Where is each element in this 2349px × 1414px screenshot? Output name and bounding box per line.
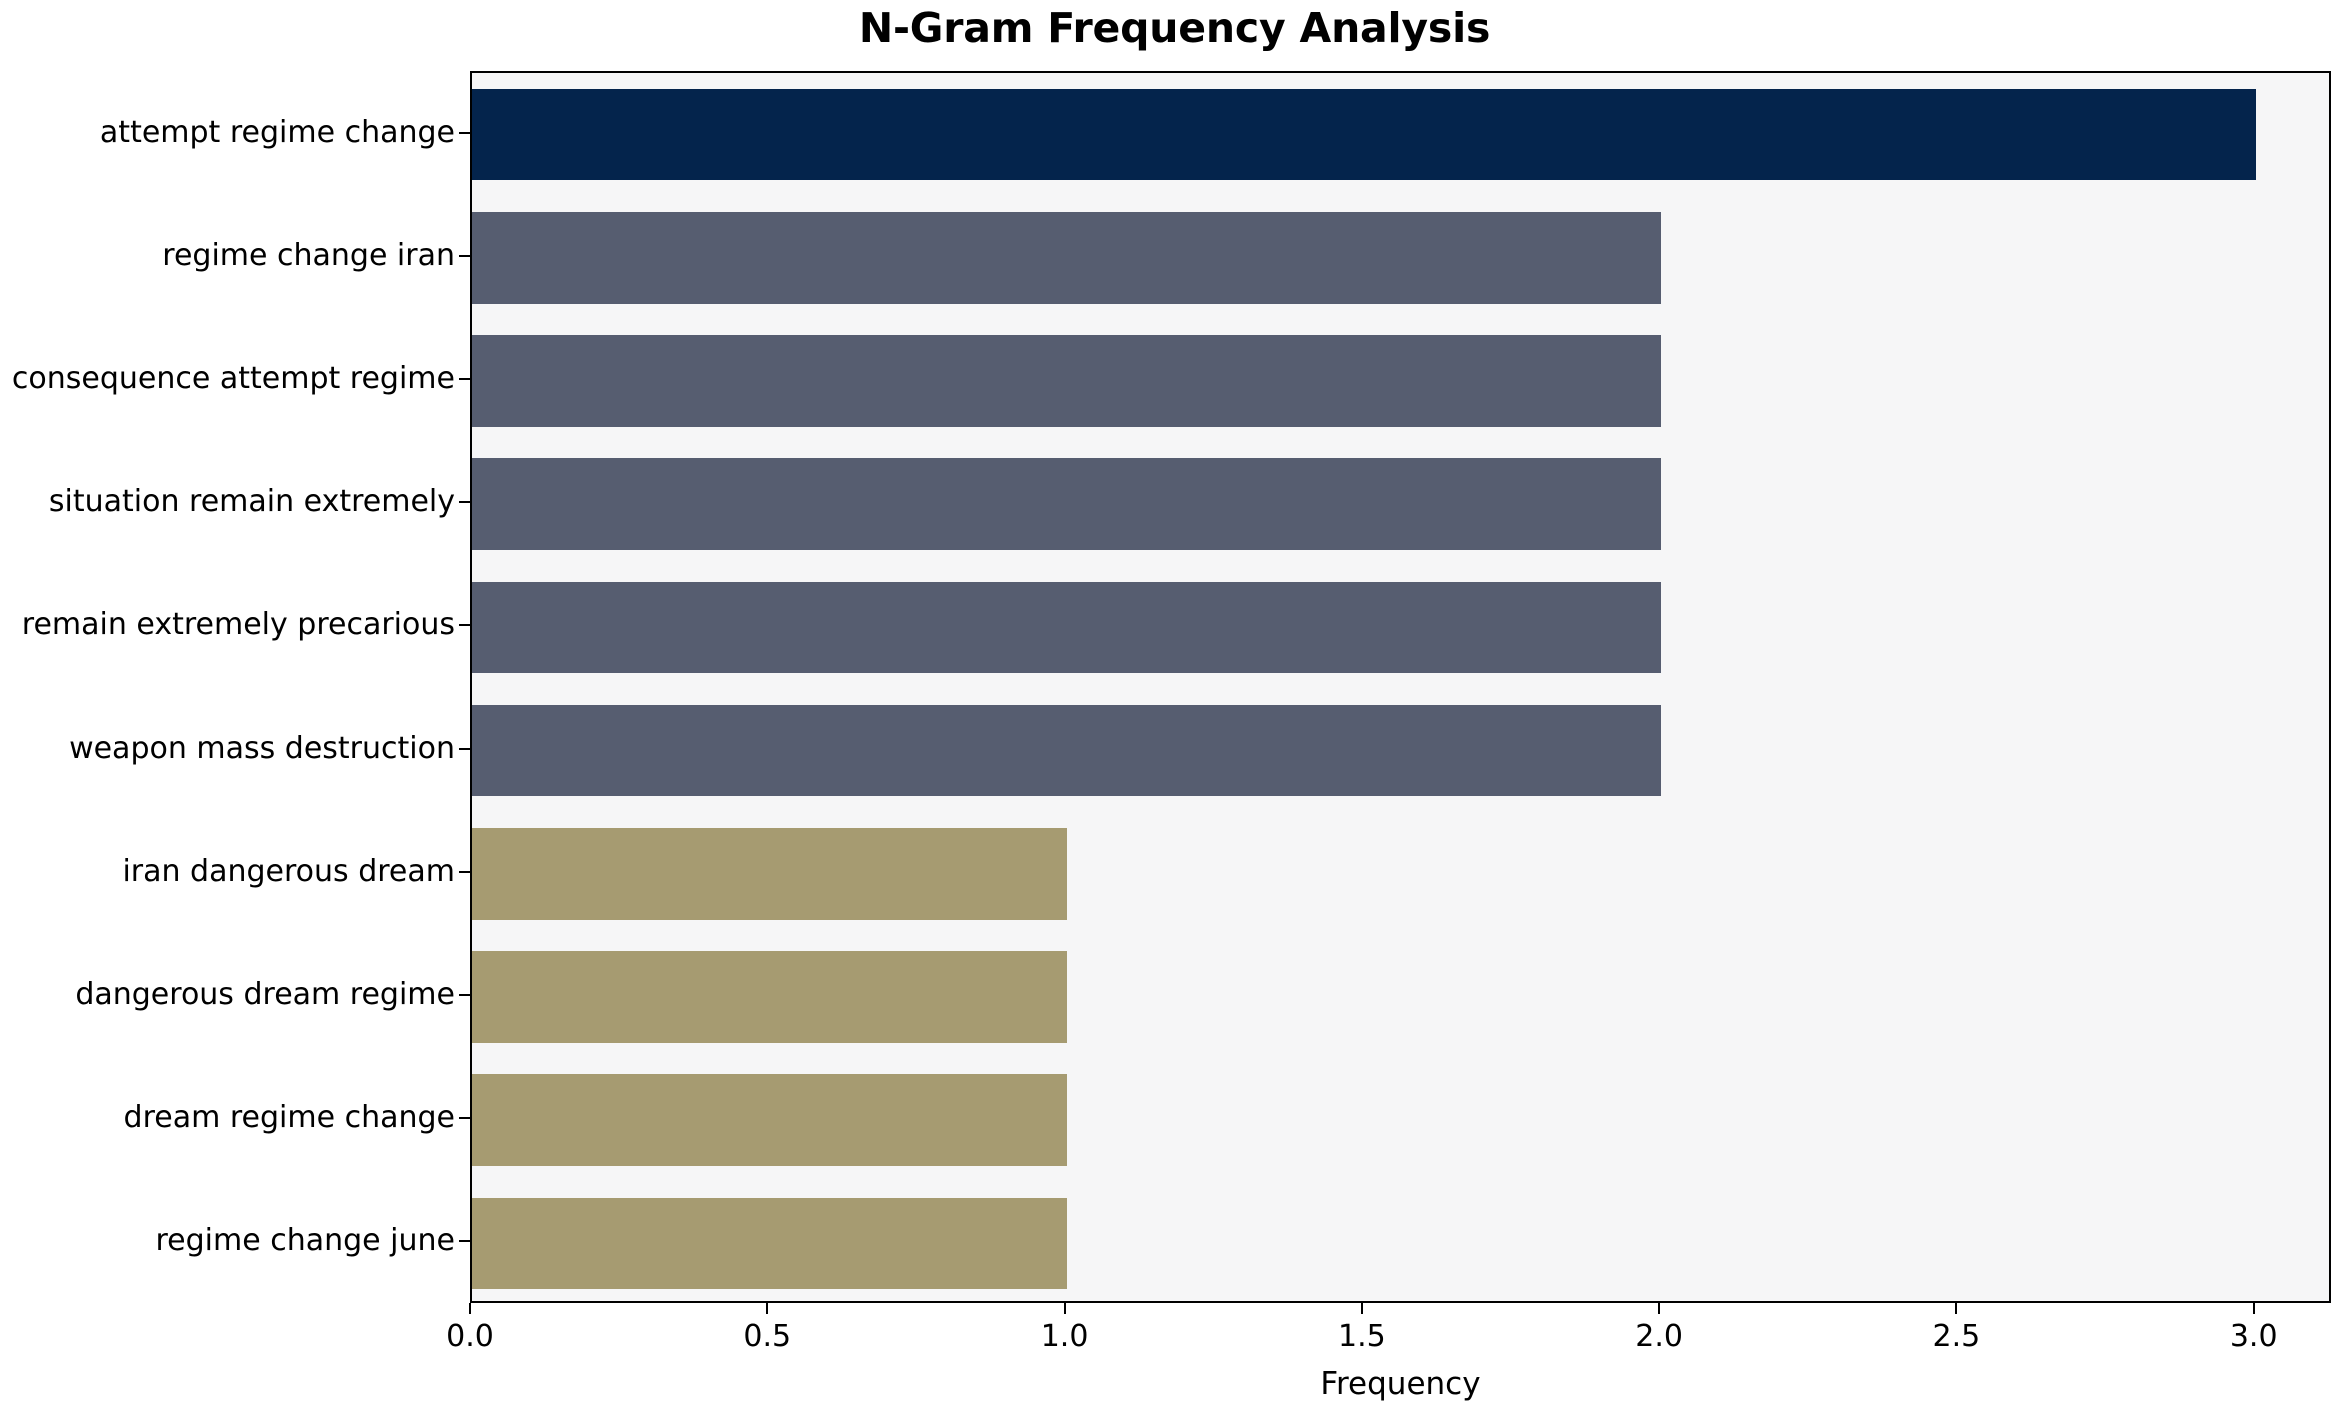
y-tick-label: consequence attempt regime: [0, 364, 455, 394]
bar: [472, 951, 1067, 1043]
y-tick-mark: [459, 748, 470, 750]
bar: [472, 1074, 1067, 1166]
x-tick-label: 0.5: [707, 1320, 827, 1354]
bar: [472, 212, 1661, 304]
y-tick-label: regime change iran: [0, 241, 455, 271]
x-axis-label: Frequency: [470, 1366, 2331, 1402]
x-tick-label: 1.5: [1302, 1320, 1422, 1354]
y-tick-mark: [459, 1240, 470, 1242]
y-tick-label: attempt regime change: [0, 118, 455, 148]
y-tick-label: regime change june: [0, 1226, 455, 1256]
x-tick-label: 2.5: [1896, 1320, 2016, 1354]
bars-layer: [472, 73, 2329, 1301]
y-tick-label: situation remain extremely: [0, 487, 455, 517]
x-tick-mark: [469, 1303, 471, 1314]
bar: [472, 1198, 1067, 1290]
x-tick-mark: [1955, 1303, 1957, 1314]
x-tick-mark: [2253, 1303, 2255, 1314]
page-title: N-Gram Frequency Analysis: [0, 4, 2349, 52]
bar: [472, 582, 1661, 674]
bar: [472, 705, 1661, 797]
y-tick-mark: [459, 871, 470, 873]
y-tick-mark: [459, 994, 470, 996]
y-tick-mark: [459, 255, 470, 257]
x-tick-label: 3.0: [2194, 1320, 2314, 1354]
plot-area: [470, 71, 2331, 1303]
bar: [472, 828, 1067, 920]
x-tick-label: 0.0: [410, 1320, 530, 1354]
bar: [472, 458, 1661, 550]
y-tick-mark: [459, 378, 470, 380]
y-tick-label: iran dangerous dream: [0, 857, 455, 887]
y-tick-mark: [459, 132, 470, 134]
x-tick-mark: [1658, 1303, 1660, 1314]
y-tick-mark: [459, 1117, 470, 1119]
x-tick-mark: [1064, 1303, 1066, 1314]
x-tick-mark: [766, 1303, 768, 1314]
y-tick-label: remain extremely precarious: [0, 610, 455, 640]
bar: [472, 335, 1661, 427]
y-tick-label: dangerous dream regime: [0, 980, 455, 1010]
y-tick-label: dream regime change: [0, 1103, 455, 1133]
y-tick-label: weapon mass destruction: [0, 734, 455, 764]
x-tick-mark: [1361, 1303, 1363, 1314]
bar: [472, 89, 2256, 181]
chart-figure: N-Gram Frequency Analysis attempt regime…: [0, 0, 2349, 1414]
y-tick-mark: [459, 624, 470, 626]
y-tick-mark: [459, 501, 470, 503]
x-tick-label: 2.0: [1599, 1320, 1719, 1354]
x-tick-label: 1.0: [1005, 1320, 1125, 1354]
